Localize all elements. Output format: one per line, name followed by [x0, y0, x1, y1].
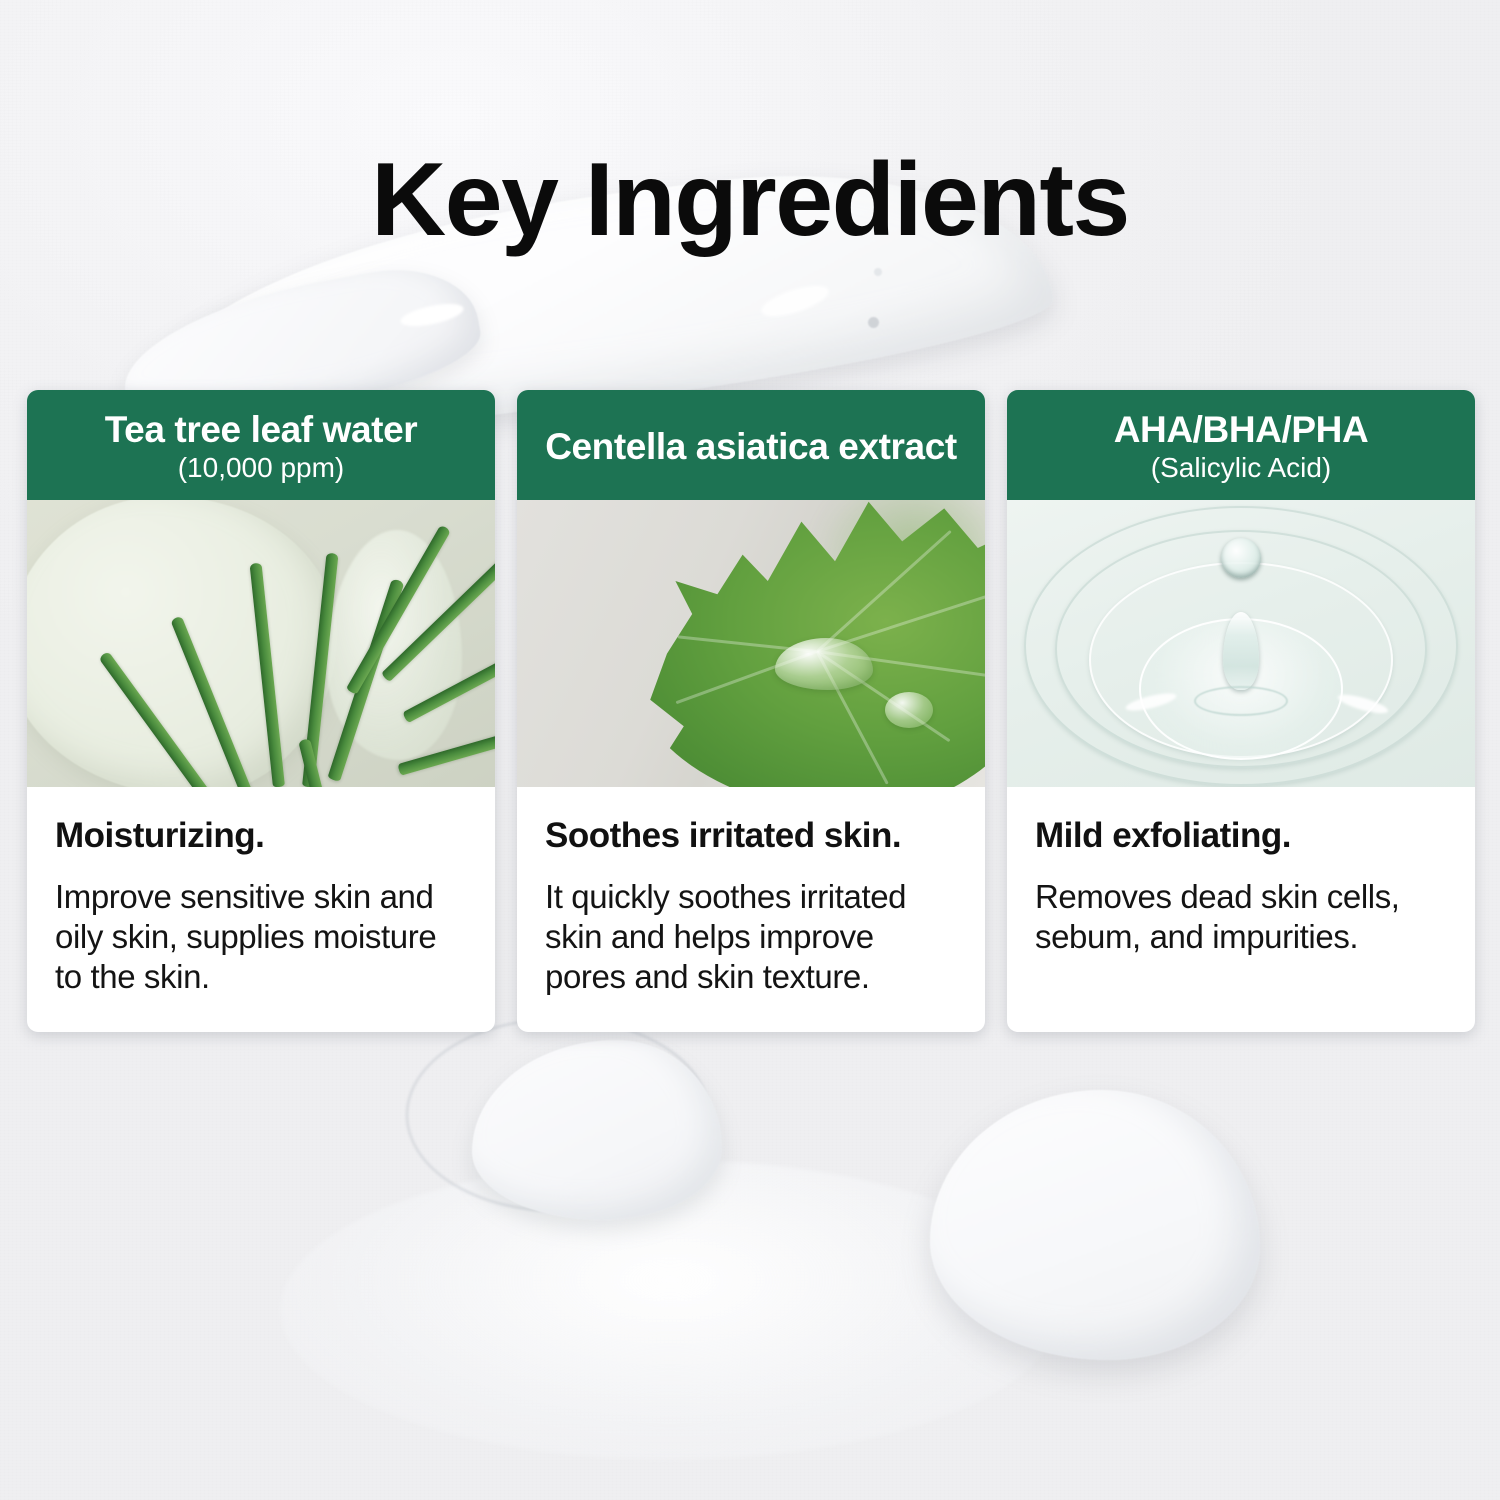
page-title: Key Ingredients — [0, 148, 1500, 252]
ingredient-card-tea-tree[interactable]: Tea tree leaf water (10,000 ppm) Moistu — [27, 390, 495, 1032]
card-title: Tea tree leaf water — [105, 410, 418, 449]
card-title: Centella asiatica extract — [545, 427, 957, 466]
gel-speck-dark — [868, 317, 879, 328]
card-image-tea-tree — [27, 500, 495, 787]
ingredient-card-list: Tea tree leaf water (10,000 ppm) Moistu — [27, 390, 1475, 1032]
card-subtitle: (Salicylic Acid) — [1151, 452, 1331, 484]
card-subtitle: (10,000 ppm) — [178, 452, 345, 484]
card-body: Moisturizing. Improve sensitive skin and… — [27, 787, 495, 1032]
benefit-heading: Mild exfoliating. — [1035, 817, 1447, 855]
benefit-heading: Soothes irritated skin. — [545, 817, 957, 855]
ingredient-card-acids[interactable]: AHA/BHA/PHA (Salicylic Acid) Mild exfoli… — [1007, 390, 1475, 1032]
card-header: AHA/BHA/PHA (Salicylic Acid) — [1007, 390, 1475, 500]
card-body: Mild exfoliating. Removes dead skin cell… — [1007, 787, 1475, 1032]
card-body: Soothes irritated skin. It quickly sooth… — [517, 787, 985, 1032]
card-header: Tea tree leaf water (10,000 ppm) — [27, 390, 495, 500]
card-image-centella — [517, 500, 985, 787]
card-header: Centella asiatica extract — [517, 390, 985, 500]
benefit-text: Improve sensitive skin and oily skin, su… — [55, 877, 467, 998]
ingredients-infographic: Key Ingredients Tea tree leaf water (10,… — [0, 0, 1500, 1500]
falling-droplet — [1221, 538, 1261, 578]
ingredient-card-centella[interactable]: Centella asiatica extract Soothes irrita… — [517, 390, 985, 1032]
water-droplet-small — [885, 692, 933, 728]
gel-speck-light — [874, 268, 882, 276]
card-image-water-drop — [1007, 500, 1475, 787]
splash-ripple — [1194, 686, 1288, 716]
benefit-text: Removes dead skin cells, sebum, and impu… — [1035, 877, 1447, 958]
benefit-text: It quickly soothes irritated skin and he… — [545, 877, 957, 998]
benefit-heading: Moisturizing. — [55, 817, 467, 855]
card-title: AHA/BHA/PHA — [1114, 410, 1369, 449]
